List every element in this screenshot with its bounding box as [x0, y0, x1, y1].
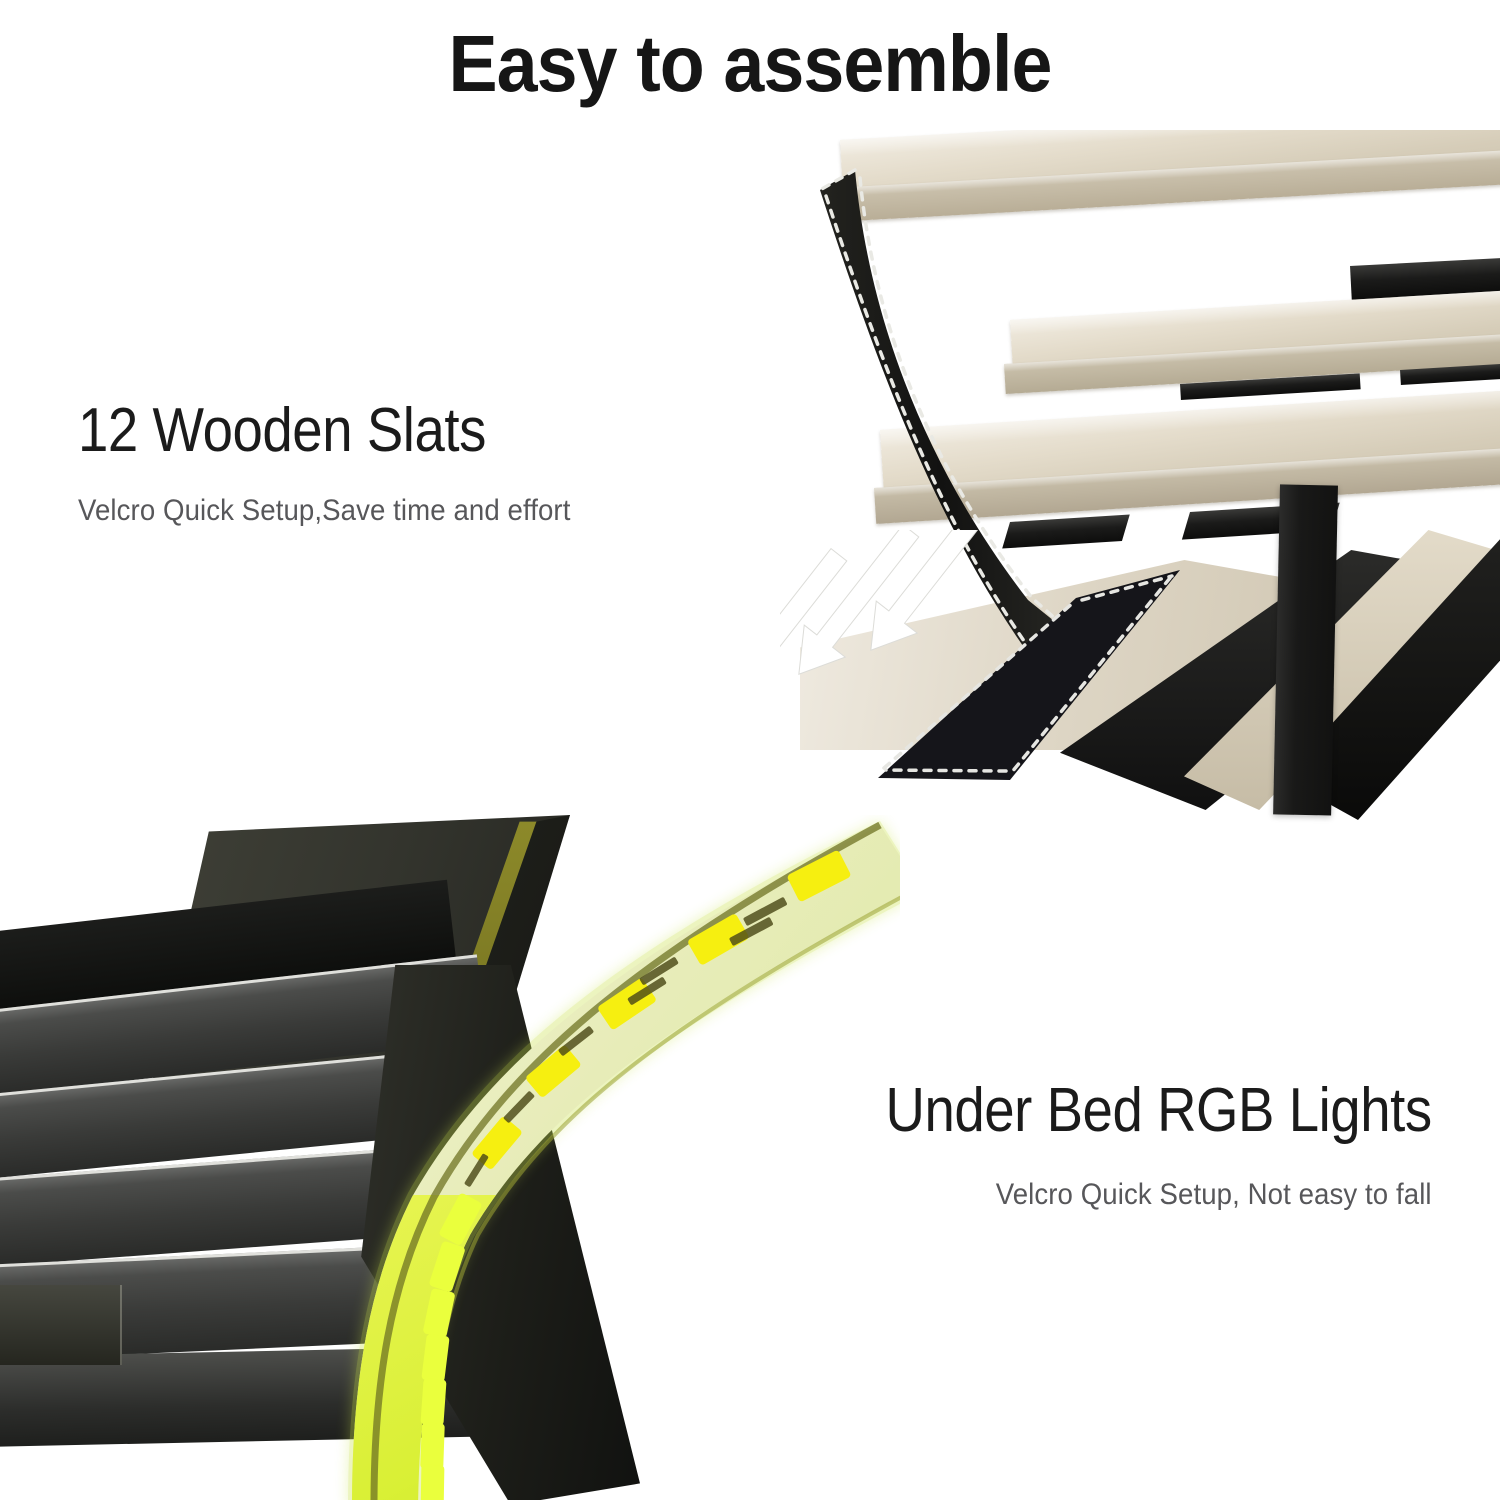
infographic-canvas: Easy to assemble — [0, 0, 1500, 1500]
feature-wooden-slats: 12 Wooden Slats Velcro Quick Setup,Save … — [78, 398, 613, 529]
photo-rgb-lights — [0, 815, 900, 1500]
rgb-led-strip — [0, 815, 900, 1500]
photo-wooden-slats — [760, 130, 1500, 830]
feature-heading-wooden-slats: 12 Wooden Slats — [78, 398, 549, 463]
feature-subtitle-wooden-slats: Velcro Quick Setup,Save time and effort — [78, 493, 570, 529]
feature-heading-rgb-lights: Under Bed RGB Lights — [886, 1078, 1432, 1143]
feature-subtitle-rgb-lights: Velcro Quick Setup, Not easy to fall — [861, 1177, 1432, 1213]
assembly-arrow-icon — [780, 530, 1180, 830]
page-title: Easy to assemble — [60, 18, 1440, 110]
feature-rgb-lights: Under Bed RGB Lights Velcro Quick Setup,… — [811, 1078, 1432, 1213]
